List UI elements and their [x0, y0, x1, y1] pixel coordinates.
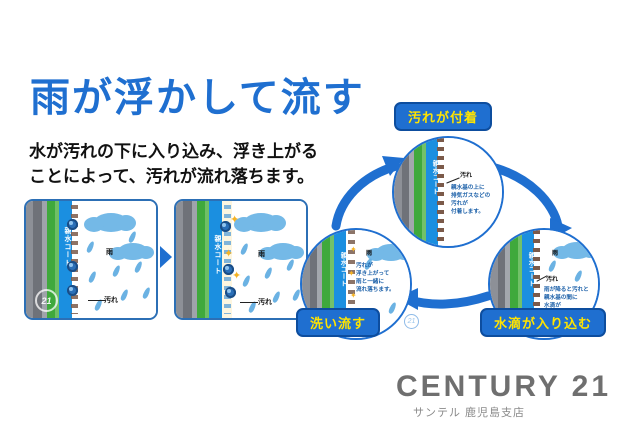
dirt-label: 汚れ — [460, 170, 472, 179]
coat-label: 親水コート — [424, 160, 437, 195]
step-description: 親水基の上に 排気ガスなどの 汚れが 付着します。 — [451, 184, 490, 216]
cycle-label-wash-away: 洗い流す — [296, 308, 380, 337]
cycle-label-adhere: 汚れが付着 — [394, 102, 492, 131]
dirt-particle-icon — [67, 261, 78, 272]
dirt-particle-icon — [225, 287, 236, 298]
dirt-particle-icon — [67, 285, 78, 296]
coat-label: 親水コート — [520, 252, 533, 287]
century21-watermark: 21 — [404, 314, 419, 329]
century21-watermark: 21 — [35, 289, 58, 312]
brand-branch: サンテル 鹿児島支店 — [413, 404, 525, 420]
coat-label: 親水コート — [332, 252, 345, 287]
page-subtitle: 水が汚れの下に入り込み、浮き上がる ことによって、汚れが流れ落ちます。 — [29, 140, 329, 189]
cloud-icon — [94, 213, 128, 232]
brand-logo: CENTURY 21 — [396, 372, 611, 402]
cloud-icon — [562, 242, 592, 259]
arrow-right-icon — [160, 246, 172, 268]
step-description: 汚れが 浮き上がって 雨と一緒に 流れ落ちます。 — [356, 262, 395, 294]
subtitle-line-1: 水が汚れの下に入り込み、浮き上がる — [29, 142, 318, 161]
dirt-label: 汚れ — [258, 297, 272, 307]
dirt-particle-icon — [220, 221, 231, 232]
cycle-label-water-enters: 水滴が入り込む — [480, 308, 606, 337]
rain-label: 雨 — [258, 249, 265, 259]
dirt-label: 汚れ — [546, 274, 558, 283]
rain-label: 雨 — [106, 247, 113, 257]
dirt-label: 汚れ — [104, 295, 118, 305]
rain-label: 雨 — [366, 248, 372, 257]
subtitle-line-2: ことによって、汚れが流れ落ちます。 — [29, 165, 329, 190]
coat-label: 親水コート — [207, 235, 221, 275]
dirt-particle-icon — [223, 264, 234, 275]
cycle-diagram: 親水コート 汚れ 親水基の上に 排気ガスなどの 汚れが 付着します。 汚れが付着… — [292, 100, 614, 338]
dirt-particle-icon — [67, 219, 78, 230]
cloud-icon — [118, 243, 148, 260]
dirt-layer — [437, 138, 444, 246]
panel-before: 親水コート 雨 汚れ 21 — [24, 199, 158, 320]
panel-after: 親水コート ✦ ✦ ✦ 雨 汚れ — [174, 199, 308, 320]
cloud-icon — [376, 244, 406, 261]
rain-label: 雨 — [552, 248, 558, 257]
infographic-page: 雨が浮かして流す 水が汚れの下に入り込み、浮き上がる ことによって、汚れが流れ落… — [0, 0, 620, 429]
cloud-icon — [244, 213, 278, 232]
